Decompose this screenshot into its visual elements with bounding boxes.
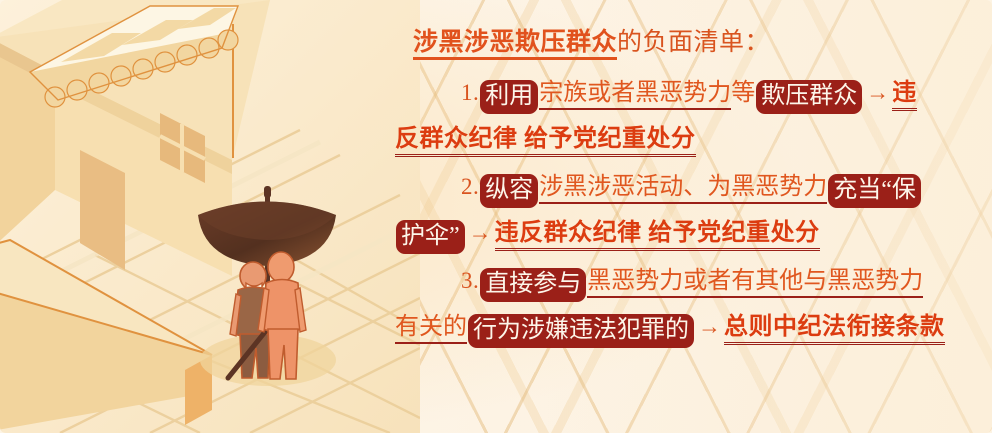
list-item-line-2: 护伞”→违反群众纪律 给予党纪重处分: [395, 210, 975, 256]
plain-token: 等: [731, 80, 755, 106]
arrow-icon: →: [863, 80, 892, 105]
badge-token: 行为涉嫌违法犯罪的: [468, 314, 694, 348]
underlined-token: 黑恶势力或者有其他与黑恶势力: [587, 268, 923, 298]
conclusion-token: 反群众纪律 给予党纪重处分: [395, 126, 696, 157]
list-item: 3.直接参与黑恶势力或者有其他与黑恶势力有关的行为涉嫌违法犯罪的→总则中纪法衔接…: [395, 258, 975, 350]
list-item-number: 3.: [461, 268, 479, 293]
badge-token: 利用: [480, 80, 538, 114]
list-container: 1.利用宗族或者黑恶势力等欺压群众→违反群众纪律 给予党纪重处分2.纵容涉黑涉恶…: [395, 70, 975, 350]
negative-list-text-block: 涉黑涉恶欺压群众的负面清单： 1.利用宗族或者黑恶势力等欺压群众→违反群众纪律 …: [395, 14, 975, 414]
underlined-token: 有关的: [395, 314, 467, 344]
badge-token: 直接参与: [480, 268, 586, 302]
conclusion-token: 违: [892, 80, 917, 111]
list-item-number: 2.: [461, 174, 479, 199]
list-item-line-2: 反群众纪律 给予党纪重处分: [395, 116, 975, 162]
badge-token: 纵容: [480, 174, 538, 208]
list-item-line-2: 有关的行为涉嫌违法犯罪的→总则中纪法衔接条款: [395, 304, 975, 350]
badge-token: 护伞”: [396, 220, 465, 254]
page-title: 涉黑涉恶欺压群众的负面清单：: [413, 26, 975, 60]
title-highlight: 涉黑涉恶欺压群众: [413, 29, 617, 60]
arrow-icon: →: [466, 220, 495, 245]
conclusion-token: 总则中纪法衔接条款: [724, 314, 945, 345]
badge-token: 欺压群众: [756, 80, 862, 114]
isometric-street-illustration: [0, 0, 420, 433]
underlined-token: 涉黑涉恶活动、: [539, 174, 707, 204]
list-item: 1.利用宗族或者黑恶势力等欺压群众→违反群众纪律 给予党纪重处分: [395, 70, 975, 162]
badge-token: 充当“保: [828, 174, 921, 208]
list-item-line-1: 1.利用宗族或者黑恶势力等欺压群众→违: [395, 70, 975, 116]
underlined-token: 宗族或者黑恶势力: [539, 80, 731, 110]
list-item-line-1: 2.纵容涉黑涉恶活动、为黑恶势力充当“保: [395, 164, 975, 210]
conclusion-token: 违反群众纪律 给予党纪重处分: [495, 220, 820, 251]
list-item-number: 1.: [461, 80, 479, 105]
infographic-canvas: 涉黑涉恶欺压群众的负面清单： 1.利用宗族或者黑恶势力等欺压群众→违反群众纪律 …: [0, 0, 992, 433]
arrow-icon: →: [695, 314, 724, 339]
list-item: 2.纵容涉黑涉恶活动、为黑恶势力充当“保护伞”→违反群众纪律 给予党纪重处分: [395, 164, 975, 256]
underlined-token: 为黑恶势力: [707, 174, 827, 204]
title-rest: 的负面清单：: [617, 29, 770, 56]
list-item-line-1: 3.直接参与黑恶势力或者有其他与黑恶势力: [395, 258, 975, 304]
